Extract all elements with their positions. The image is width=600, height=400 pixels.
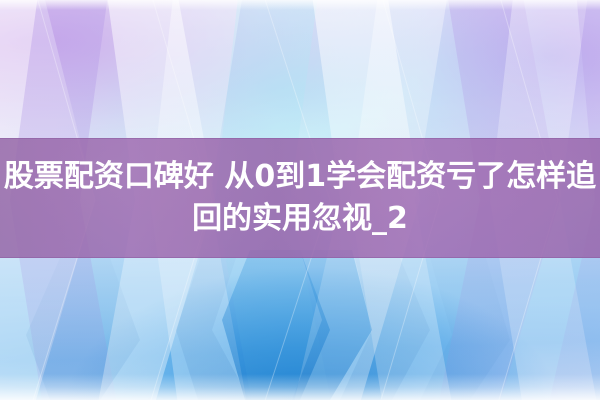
- cover-title: 股票配资口碑好 从0到1学会配资亏了怎样追回的实用忽视_2: [0, 156, 600, 240]
- article-cover: 股票配资口碑好 从0到1学会配资亏了怎样追回的实用忽视_2: [0, 0, 600, 400]
- title-band-bottom-edge: [0, 257, 600, 258]
- title-band-top-edge: [0, 138, 600, 139]
- title-band: 股票配资口碑好 从0到1学会配资亏了怎样追回的实用忽视_2: [0, 138, 600, 258]
